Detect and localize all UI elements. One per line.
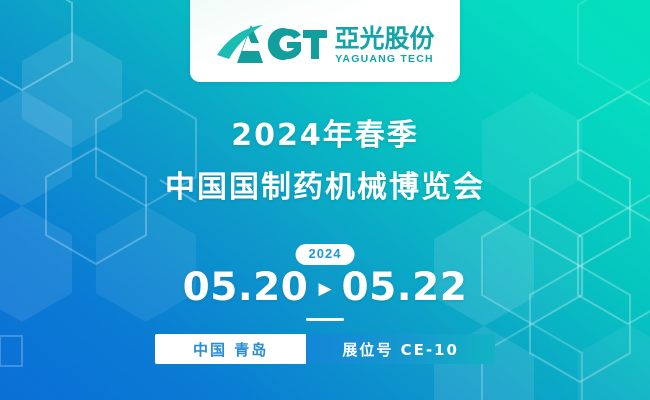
exhibition-poster: 亞光股份 YAGUANG TECH 2024年春季 中国国制药机械博览会 202… — [0, 0, 650, 400]
logo-company-name-cn: 亞光股份 — [334, 26, 434, 51]
hexagon-shape — [482, 324, 582, 400]
booth-number-label: 展位号 CE-10 — [306, 334, 495, 364]
agt-logo-icon — [215, 21, 327, 70]
brand-logo-card: 亞光股份 YAGUANG TECH — [190, 0, 460, 82]
square-accent — [0, 336, 22, 366]
divider-line — [306, 318, 344, 321]
poster-headline: 2024年春季 中国国制药机械博览会 — [0, 118, 650, 206]
venue-info-bar: 中国 青岛 展位号 CE-10 — [155, 334, 495, 364]
venue-city-label: 中国 青岛 — [155, 334, 306, 364]
arrow-right-icon: ▶ — [318, 280, 331, 297]
event-date-range: 05.20 ▶ 05.22 — [0, 268, 650, 307]
date-start: 05.20 — [183, 268, 309, 307]
year-badge: 2024 — [296, 244, 355, 265]
logo-company-name-en: YAGUANG TECH — [335, 54, 434, 65]
headline-line-1: 2024年春季 — [0, 118, 650, 154]
date-end: 05.22 — [342, 268, 468, 307]
hexagon-shape — [0, 0, 72, 90]
hexagon-shape — [578, 324, 650, 400]
hexagon-shape — [578, 0, 650, 92]
headline-line-2: 中国国制药机械博览会 — [0, 170, 650, 206]
